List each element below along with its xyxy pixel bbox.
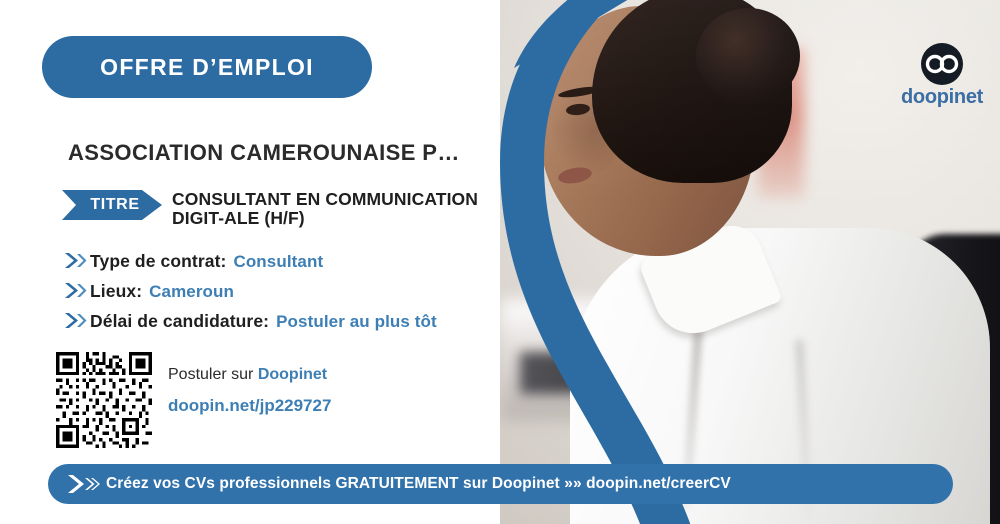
detail-value: Consultant [233, 252, 323, 272]
titre-badge: TITRE [62, 190, 162, 220]
apply-brand: Doopinet [258, 366, 327, 383]
detail-value: Cameroun [149, 282, 234, 302]
detail-label: Type de contrat: [90, 251, 226, 272]
job-title: CONSULTANT EN COMMUNICATION DIGIT-ALE (H… [172, 190, 532, 227]
detail-row-contract-type: Type de contrat: Consultant [64, 250, 437, 272]
detail-row-deadline: Délai de candidature: Postuler au plus t… [64, 310, 437, 332]
company-name: ASSOCIATION CAMEROUNAISE P… [68, 140, 498, 166]
offre-demploi-label: OFFRE D’EMPLOI [100, 54, 314, 81]
double-chevron-icon [66, 474, 106, 494]
hair-bun [696, 8, 800, 104]
create-cv-banner[interactable]: Créez vos CVs professionnels GRATUITEMEN… [48, 464, 953, 504]
job-offer-poster: OFFRE D’EMPLOI ASSOCIATION CAMEROUNAISE … [0, 0, 1000, 524]
apply-url[interactable]: doopin.net/jp229727 [168, 396, 331, 416]
double-chevron-icon [64, 282, 90, 304]
apply-text-block: Postuler sur Doopinet doopin.net/jp22972… [168, 352, 331, 416]
detail-list: Type de contrat: Consultant Lieux: Camer… [64, 250, 437, 340]
double-chevron-icon [64, 252, 90, 274]
detail-value: Postuler au plus tôt [276, 312, 437, 332]
doopinet-wordmark: doopinet [896, 87, 988, 107]
apply-prefix: Postuler sur [168, 366, 258, 383]
detail-row-location: Lieux: Cameroun [64, 280, 437, 302]
qr-code-icon[interactable] [56, 352, 152, 448]
apply-block: Postuler sur Doopinet doopin.net/jp22972… [56, 352, 331, 448]
offer-details-panel: OFFRE D’EMPLOI ASSOCIATION CAMEROUNAISE … [0, 0, 520, 524]
infinity-rings-icon [920, 42, 964, 86]
doopinet-logo: doopinet [896, 42, 988, 107]
offre-demploi-badge: OFFRE D’EMPLOI [42, 36, 372, 98]
apply-prefix-line: Postuler sur Doopinet [168, 366, 331, 384]
detail-label: Lieux: [90, 281, 142, 302]
create-cv-banner-text: Créez vos CVs professionnels GRATUITEMEN… [106, 475, 731, 493]
titre-badge-label: TITRE [62, 190, 162, 220]
double-chevron-icon [64, 312, 90, 334]
job-title-row: TITRE CONSULTANT EN COMMUNICATION DIGIT-… [62, 190, 532, 227]
detail-label: Délai de candidature: [90, 311, 269, 332]
